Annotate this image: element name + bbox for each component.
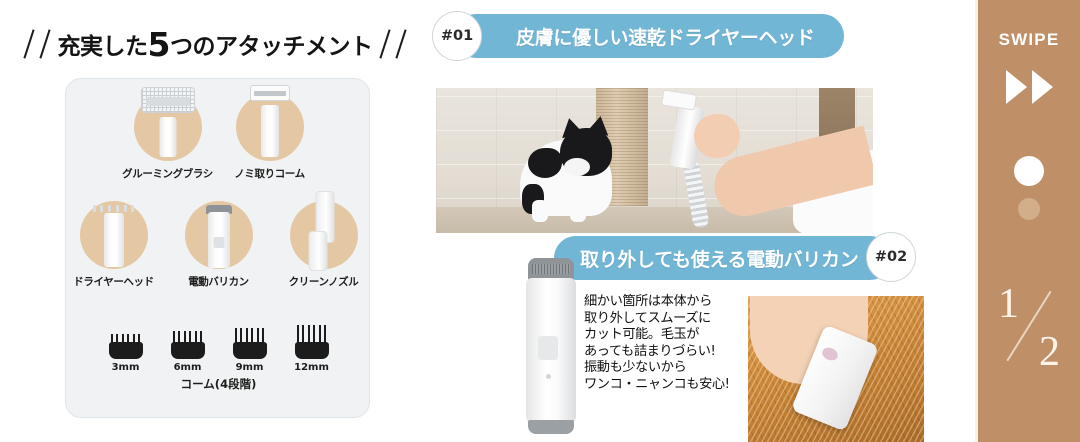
description-line: ワンコ・ニャンコも安心! [584, 377, 774, 394]
attachment-label: クリーンノズル [289, 274, 359, 289]
attachment-thumb [236, 93, 304, 161]
comb-label: 3mm [112, 362, 140, 373]
headline-text: 充実した5つのアタッチメント [58, 25, 373, 64]
attachment-item-dryer-head[interactable]: ドライヤーヘッド [66, 201, 161, 289]
feature-02-description: 細かい箇所は本体から 取り外してスムーズに カット可能。毛玉が あっても詰まりづ… [584, 294, 774, 394]
slash-icon [394, 29, 407, 59]
page-total: 2 [1039, 328, 1060, 376]
description-line: 振動も少ないから [584, 360, 774, 377]
attachments-row-bottom: ドライヤーヘッド 電動バリカン [66, 201, 371, 289]
combs-caption: コーム(4段階) [66, 376, 371, 392]
slide-canvas: 充実した5つのアタッチメント グルーミングブラシ [0, 0, 1080, 442]
attachment-thumb [80, 201, 148, 269]
decor-slashes-right [378, 29, 407, 59]
slash-icon [378, 29, 391, 59]
slash-icon [23, 29, 36, 59]
comb-label: 9mm [236, 362, 264, 373]
comb-icon [109, 319, 143, 359]
attachment-label: ノミ取りコーム [234, 166, 304, 181]
description-line: 取り外してスムーズに [584, 311, 774, 328]
comb-label: 12mm [294, 362, 329, 373]
feature-01-badge: #01 [432, 11, 482, 61]
comb-label: 6mm [174, 362, 202, 373]
clipper-on-fur-photo [748, 296, 924, 442]
comb-item[interactable]: 12mm [286, 319, 338, 373]
swipe-sidebar[interactable]: SWIPE 1 2 [975, 0, 1080, 442]
dryer-head-icon [80, 201, 148, 269]
comb-item[interactable]: 6mm [162, 319, 214, 373]
description-line: カット可能。毛玉が [584, 327, 774, 344]
headline: 充実した5つのアタッチメント [0, 22, 430, 66]
attachment-item-grooming-brush[interactable]: グルーミングブラシ [128, 93, 208, 181]
feature-01-banner: #01 皮膚に優しい速乾ドライヤーヘッド [454, 14, 844, 58]
decor-slashes-left [23, 29, 52, 59]
attachment-label: 電動バリカン [188, 274, 249, 289]
double-triangle-right-icon[interactable] [1006, 70, 1053, 104]
description-line: あっても詰まりづらい! [584, 344, 774, 361]
attachment-thumb [185, 201, 253, 269]
comb-icon [295, 319, 329, 359]
description-line: 細かい箇所は本体から [584, 294, 774, 311]
headline-prefix: 充実した [58, 34, 148, 60]
attachment-item-flea-comb[interactable]: ノミ取りコーム [230, 93, 310, 181]
swipe-label: SWIPE [999, 30, 1060, 50]
electric-clipper-product-image [524, 258, 578, 438]
comb-icon [233, 319, 267, 359]
attachment-label: グルーミングブラシ [122, 166, 213, 181]
attachments-panel: グルーミングブラシ ノミ取りコーム [65, 78, 370, 418]
clean-nozzle-icon [290, 201, 358, 269]
headline-number: 5 [148, 25, 170, 64]
attachments-row-top: グルーミングブラシ ノミ取りコーム [66, 93, 371, 181]
attachment-label: ドライヤーヘッド [73, 274, 154, 289]
attachment-thumb [290, 201, 358, 269]
flea-comb-icon [236, 93, 304, 161]
pagination-dot-2[interactable] [1018, 198, 1040, 220]
attachment-item-clean-nozzle[interactable]: クリーンノズル [276, 201, 371, 289]
feature-02-content: 細かい箇所は本体から 取り外してスムーズに カット可能。毛玉が あっても詰まりづ… [508, 248, 928, 442]
comb-item[interactable]: 3mm [100, 319, 152, 373]
comb-icon [171, 319, 205, 359]
page-current: 1 [998, 280, 1019, 328]
attachment-item-electric-clipper[interactable]: 電動バリカン [171, 201, 266, 289]
pagination-dots[interactable] [1014, 156, 1044, 220]
page-indicator: 1 2 [992, 282, 1066, 370]
slash-icon [39, 29, 52, 59]
headline-suffix: つのアタッチメント [170, 34, 373, 60]
feature-01-title: 皮膚に優しい速乾ドライヤーヘッド [516, 23, 815, 50]
comb-item[interactable]: 9mm [224, 319, 276, 373]
grooming-brush-icon [134, 93, 202, 161]
attachments-column: 充実した5つのアタッチメント グルーミングブラシ [0, 0, 430, 442]
attachment-thumb [134, 93, 202, 161]
pagination-dot-1[interactable] [1014, 156, 1044, 186]
electric-clipper-icon [185, 201, 253, 269]
cat-with-dryer-photo [436, 88, 873, 233]
feature-01: #01 皮膚に優しい速乾ドライヤーヘッド [432, 14, 882, 58]
comb-sizes-row: 3mm 6mm 9mm [66, 319, 371, 373]
